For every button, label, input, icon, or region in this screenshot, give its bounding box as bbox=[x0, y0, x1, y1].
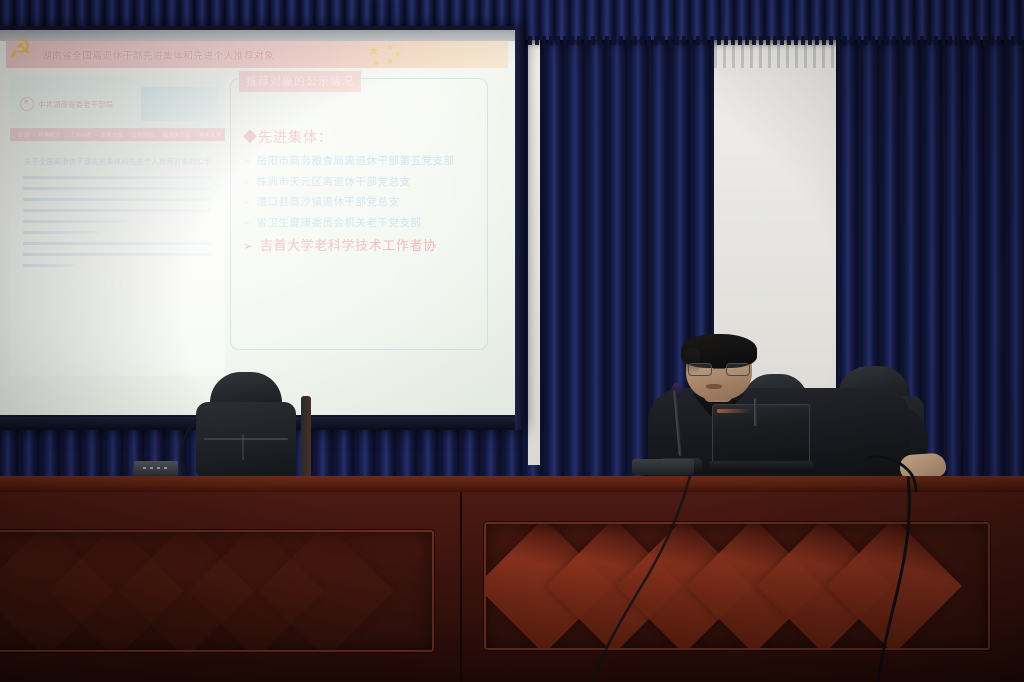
star-icon: ★ bbox=[394, 50, 402, 59]
star-icon: ★ bbox=[386, 57, 394, 66]
flag-stars-decoration: ★ ★ ★ ★ ★ bbox=[366, 43, 446, 65]
website-nav-item: 工作动态 bbox=[70, 131, 92, 139]
cable-right-drape bbox=[420, 476, 940, 682]
website-nav-bar: 首 页 机构概况 工作动态 政策法规 文件通知 离退休干部 老年大学 专题专栏 bbox=[10, 128, 225, 141]
desk-control-box-right[interactable] bbox=[632, 459, 694, 475]
text-line bbox=[23, 209, 211, 212]
party-emblem-circle-icon bbox=[20, 97, 34, 111]
text-line bbox=[23, 198, 211, 201]
microphone-pole bbox=[754, 398, 757, 426]
website-nav-item: 离退休干部 bbox=[163, 131, 191, 139]
website-nav-item: 政策法规 bbox=[101, 131, 123, 139]
list-item-label: 岳阳市商务粮食局离退休干部第五党支部 bbox=[256, 155, 454, 167]
website-nav-item: 老年大学 bbox=[199, 131, 221, 139]
slide-banner: 湖南省全国离退休干部先进集体和先进个人推荐对象 ★ ★ ★ ★ ★ bbox=[6, 41, 508, 68]
hammer-and-sickle-icon bbox=[8, 42, 38, 68]
chair-seam bbox=[204, 438, 288, 440]
bullet-arrow-icon: ➢ bbox=[243, 156, 251, 166]
slide-banner-title: 湖南省全国离退休干部先进集体和先进个人推荐对象 bbox=[42, 48, 274, 62]
star-icon: ★ bbox=[368, 44, 380, 57]
list-item: ➢ 株洲市天元区离退休干部党总支 bbox=[243, 174, 483, 189]
speaker-mouth bbox=[706, 384, 722, 389]
list-item-label: 省卫生健康委员会机关老干党支部 bbox=[256, 217, 421, 229]
bullet-arrow-icon: ➢ bbox=[243, 239, 254, 253]
slide-content-card: 推荐对象的公示情况 ◆先进集体： ➢ 岳阳市商务粮食局离退休干部第五党支部 ➢ … bbox=[230, 78, 488, 350]
list-item: ➢ 岳阳市商务粮食局离退休干部第五党支部 bbox=[243, 153, 483, 168]
text-line bbox=[23, 231, 98, 234]
website-nav-item: 机构概况 bbox=[39, 131, 61, 139]
website-header-graphic bbox=[141, 87, 219, 121]
laptop[interactable] bbox=[712, 404, 810, 472]
website-header: 中共湖南省委老干部局 bbox=[10, 82, 225, 126]
text-line bbox=[23, 242, 211, 245]
list-item: ➢ 澧口县高沙镇退休干部党总支 bbox=[243, 194, 483, 209]
list-item-label: 株洲市天元区离退休干部党总支 bbox=[256, 176, 410, 188]
cable-left bbox=[166, 420, 206, 480]
website-site-name: 中共湖南省委老干部局 bbox=[38, 99, 113, 110]
projection-screen-frame: 湖南省全国离退休干部先进集体和先进个人推荐对象 ★ ★ ★ ★ ★ 中共湖南省委… bbox=[0, 26, 524, 430]
bullet-arrow-icon: ➢ bbox=[243, 197, 251, 207]
star-icon: ★ bbox=[372, 59, 380, 68]
eyeglasses-icon bbox=[687, 363, 751, 376]
dais bbox=[0, 476, 1024, 682]
website-nav-item: 文件通知 bbox=[132, 131, 154, 139]
wall-panel-sliver bbox=[528, 33, 540, 465]
laptop-glint bbox=[717, 409, 751, 413]
cable-over-desk bbox=[868, 452, 928, 492]
laptop-base bbox=[709, 461, 813, 472]
text-line bbox=[23, 253, 211, 256]
lens-left bbox=[688, 363, 712, 376]
bullet-arrow-icon: ➢ bbox=[243, 177, 251, 187]
dais-panel-left bbox=[0, 530, 434, 652]
microphone-pole bbox=[673, 390, 682, 456]
chair-left bbox=[196, 372, 306, 480]
list-item-highlighted: ➢ 吉首大学老科学技术工作者协 bbox=[243, 235, 483, 254]
glasses-bridge bbox=[713, 368, 725, 369]
microphone-secondary[interactable] bbox=[752, 398, 758, 428]
text-line bbox=[23, 264, 76, 267]
website-article-title: 关于全国离退休干部先进集体和先进个人推荐对象的公示 bbox=[10, 156, 225, 167]
list-item: ➢ 省卫生健康委员会机关老干党支部 bbox=[243, 215, 483, 230]
slide-card-tag: 推荐对象的公示情况 bbox=[239, 71, 361, 92]
list-item-label: 吉首大学老科学技术工作者协 bbox=[260, 238, 437, 253]
website-screenshot: 中共湖南省委老干部局 首 页 机构概况 工作动态 政策法规 文件通知 离退休干部… bbox=[10, 76, 225, 376]
dais-segment-left bbox=[0, 492, 462, 682]
website-nav-item: 首 页 bbox=[17, 131, 30, 139]
text-line bbox=[23, 187, 211, 190]
projection-screen: 湖南省全国离退休干部先进集体和先进个人推荐对象 ★ ★ ★ ★ ★ 中共湖南省委… bbox=[0, 30, 515, 415]
diamond-pattern bbox=[0, 532, 432, 650]
list-item-label: 澧口县高沙镇退休干部党总支 bbox=[256, 196, 399, 208]
bullet-arrow-icon: ➢ bbox=[243, 218, 251, 228]
star-icon: ★ bbox=[386, 43, 394, 52]
website-article-body bbox=[23, 176, 211, 275]
screen-right-bar bbox=[515, 26, 524, 430]
slide-bullet-list: ➢ 岳阳市商务粮食局离退休干部第五党支部 ➢ 株洲市天元区离退休干部党总支 ➢ … bbox=[243, 153, 483, 260]
photo-scene: 湖南省全国离退休干部先进集体和先进个人推荐对象 ★ ★ ★ ★ ★ 中共湖南省委… bbox=[0, 0, 1024, 682]
chair-seam bbox=[242, 434, 244, 460]
chair-armrest bbox=[301, 396, 311, 478]
text-line bbox=[23, 220, 126, 223]
laptop-screen-lid bbox=[712, 404, 810, 462]
lens-right bbox=[726, 363, 750, 376]
screen-top-strip bbox=[0, 30, 515, 41]
slide-card-heading: ◆先进集体： bbox=[243, 127, 333, 147]
text-line bbox=[23, 176, 211, 179]
